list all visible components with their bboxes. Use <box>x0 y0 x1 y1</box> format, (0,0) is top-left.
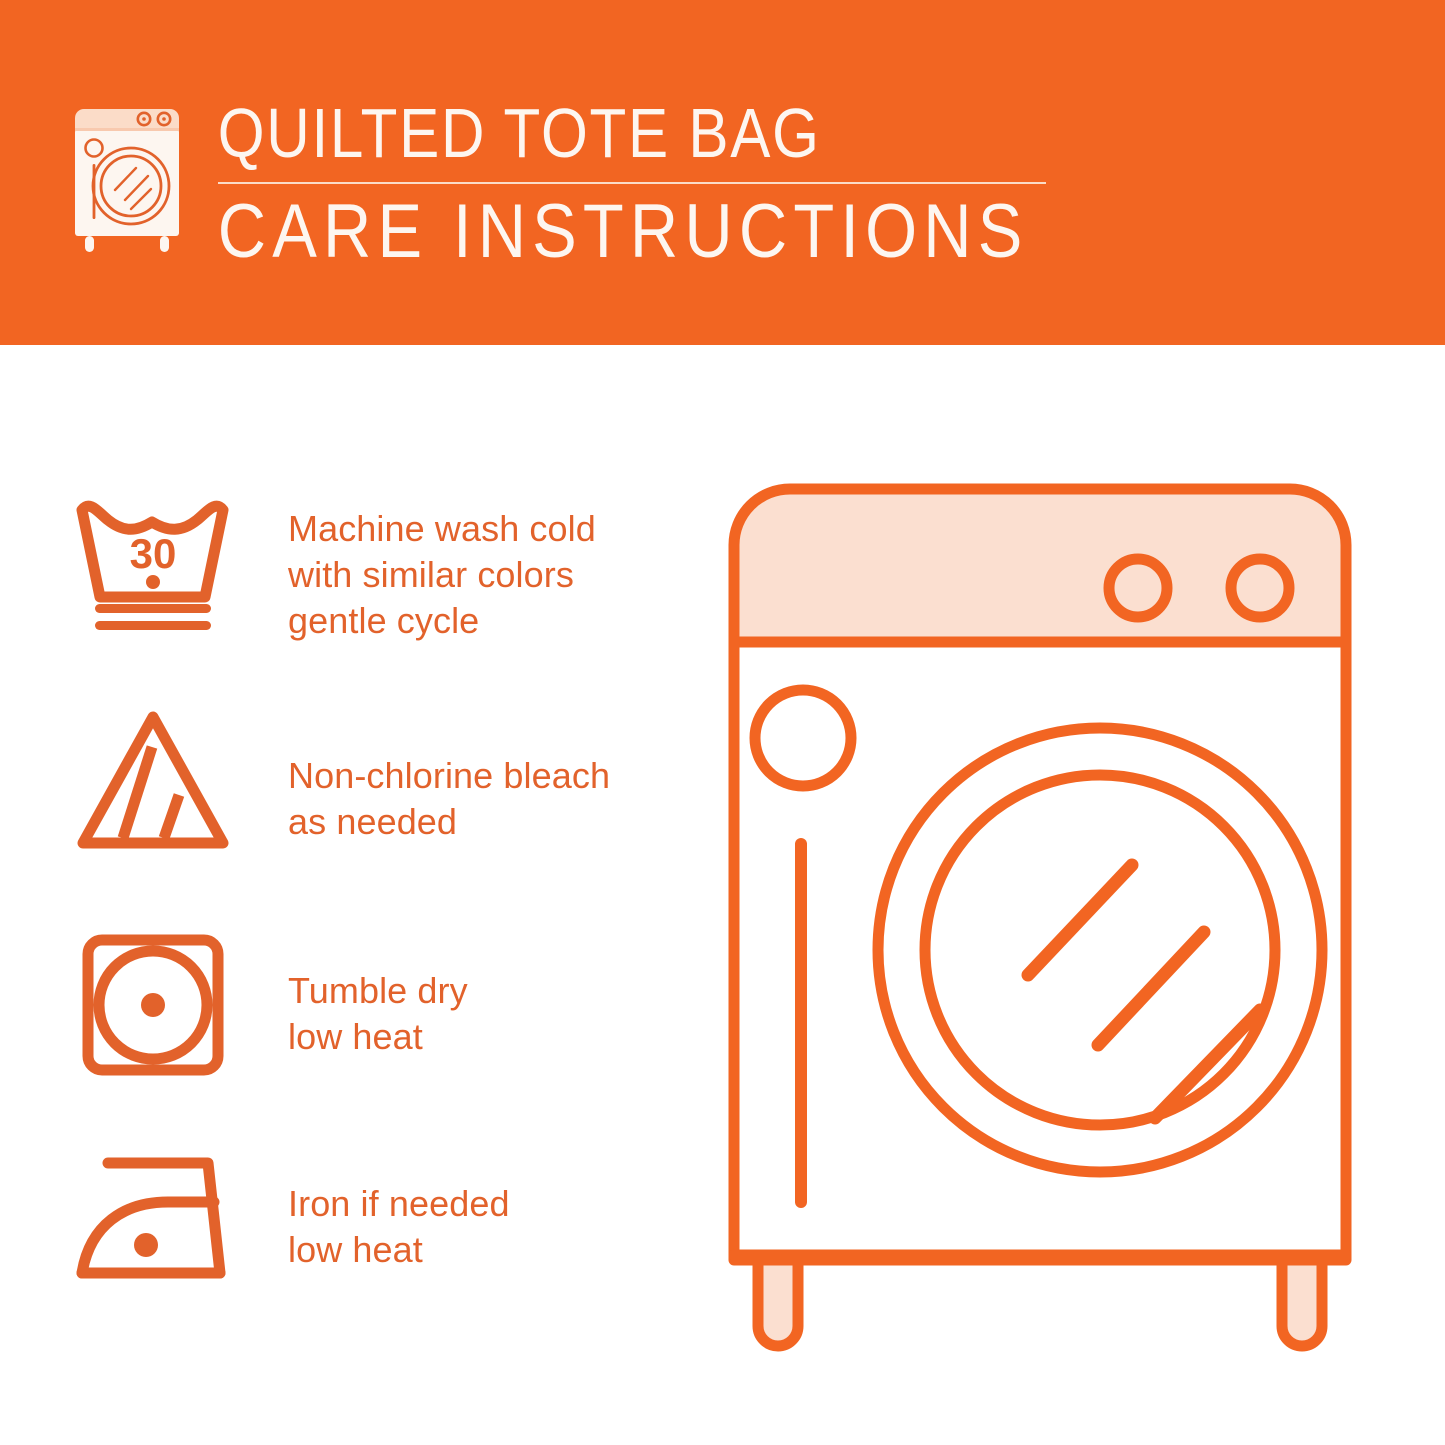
header-content: QUILTED TOTE BAG CARE INSTRUCTIONS <box>68 96 1378 266</box>
care-line: low heat <box>288 1014 688 1060</box>
washing-machine-illustration <box>700 470 1420 1390</box>
care-line: as needed <box>288 799 688 845</box>
title-divider <box>218 182 1046 184</box>
side-bar <box>795 838 807 1208</box>
care-line: Non-chlorine bleach <box>288 753 688 799</box>
iron-low-heat-icon <box>68 1145 238 1295</box>
list-item-label: Iron if needed low heat <box>288 1181 688 1273</box>
care-line: low heat <box>288 1227 688 1273</box>
list-item-label: Non-chlorine bleach as needed <box>288 753 688 845</box>
care-line: with similar colors <box>288 552 688 598</box>
care-line: gentle cycle <box>288 598 688 644</box>
wash-basin-30-icon: 30 <box>68 490 238 640</box>
care-instruction-list: 30 Machine wash cold with similar colors… <box>0 345 700 1445</box>
non-chlorine-bleach-triangle-icon <box>68 705 238 855</box>
page-subtitle: CARE INSTRUCTIONS <box>216 192 1096 272</box>
page-title: QUILTED TOTE BAG <box>216 96 1076 170</box>
care-line: Machine wash cold <box>288 506 688 552</box>
washing-machine-icon <box>68 104 186 254</box>
tumble-dry-low-icon <box>68 930 238 1080</box>
list-item-label: Tumble dry low heat <box>288 968 688 1060</box>
care-line: Iron if needed <box>288 1181 688 1227</box>
header-band: QUILTED TOTE BAG CARE INSTRUCTIONS <box>0 0 1445 345</box>
care-instructions-page: QUILTED TOTE BAG CARE INSTRUCTIONS 30 <box>0 0 1445 1445</box>
header-title-group: QUILTED TOTE BAG CARE INSTRUCTIONS <box>216 96 1216 272</box>
list-item-label: Machine wash cold with similar colors ge… <box>288 506 688 644</box>
wash-temperature-label: 30 <box>130 530 177 577</box>
care-line: Tumble dry <box>288 968 688 1014</box>
